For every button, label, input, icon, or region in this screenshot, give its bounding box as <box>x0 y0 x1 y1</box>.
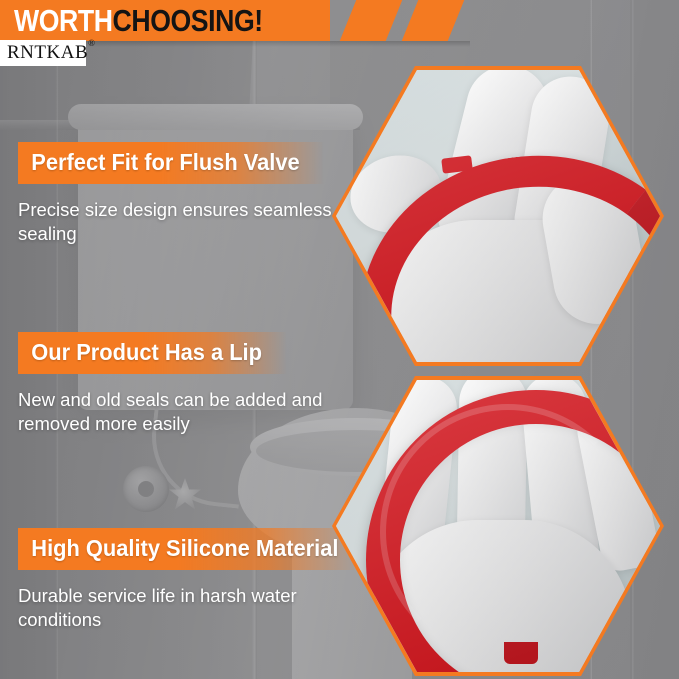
feature-body-2: New and old seals can be added and remov… <box>18 388 348 436</box>
feature-body-3: Durable service life in harsh water cond… <box>18 584 348 632</box>
headline-word-secondary: CHOOSING! <box>113 3 263 38</box>
brand-name: RNTKAB® <box>0 42 95 64</box>
feature-block-2: Our Product Has a Lip New and old seals … <box>18 332 348 436</box>
registered-trademark-icon: ® <box>88 38 95 48</box>
feature-block-1: Perfect Fit for Flush Valve Precise size… <box>18 142 348 246</box>
headline-word-primary: WORTH <box>14 3 113 38</box>
headline-text: WORTHCHOOSING! <box>14 3 263 39</box>
feature-heading-3: High Quality Silicone Material <box>18 528 363 570</box>
feature-body-1: Precise size design ensures seamless sea… <box>18 198 348 246</box>
brand-name-text: RNTKAB <box>7 42 88 63</box>
feature-block-3: High Quality Silicone Material Durable s… <box>18 528 381 632</box>
feature-heading-1: Perfect Fit for Flush Valve <box>18 142 324 184</box>
brand-logo: RNTKAB® <box>0 40 86 66</box>
feature-heading-2: Our Product Has a Lip <box>18 332 287 374</box>
product-feature-image: WORTHCHOOSING! RNTKAB® Perfect Fit for F… <box>0 0 679 679</box>
